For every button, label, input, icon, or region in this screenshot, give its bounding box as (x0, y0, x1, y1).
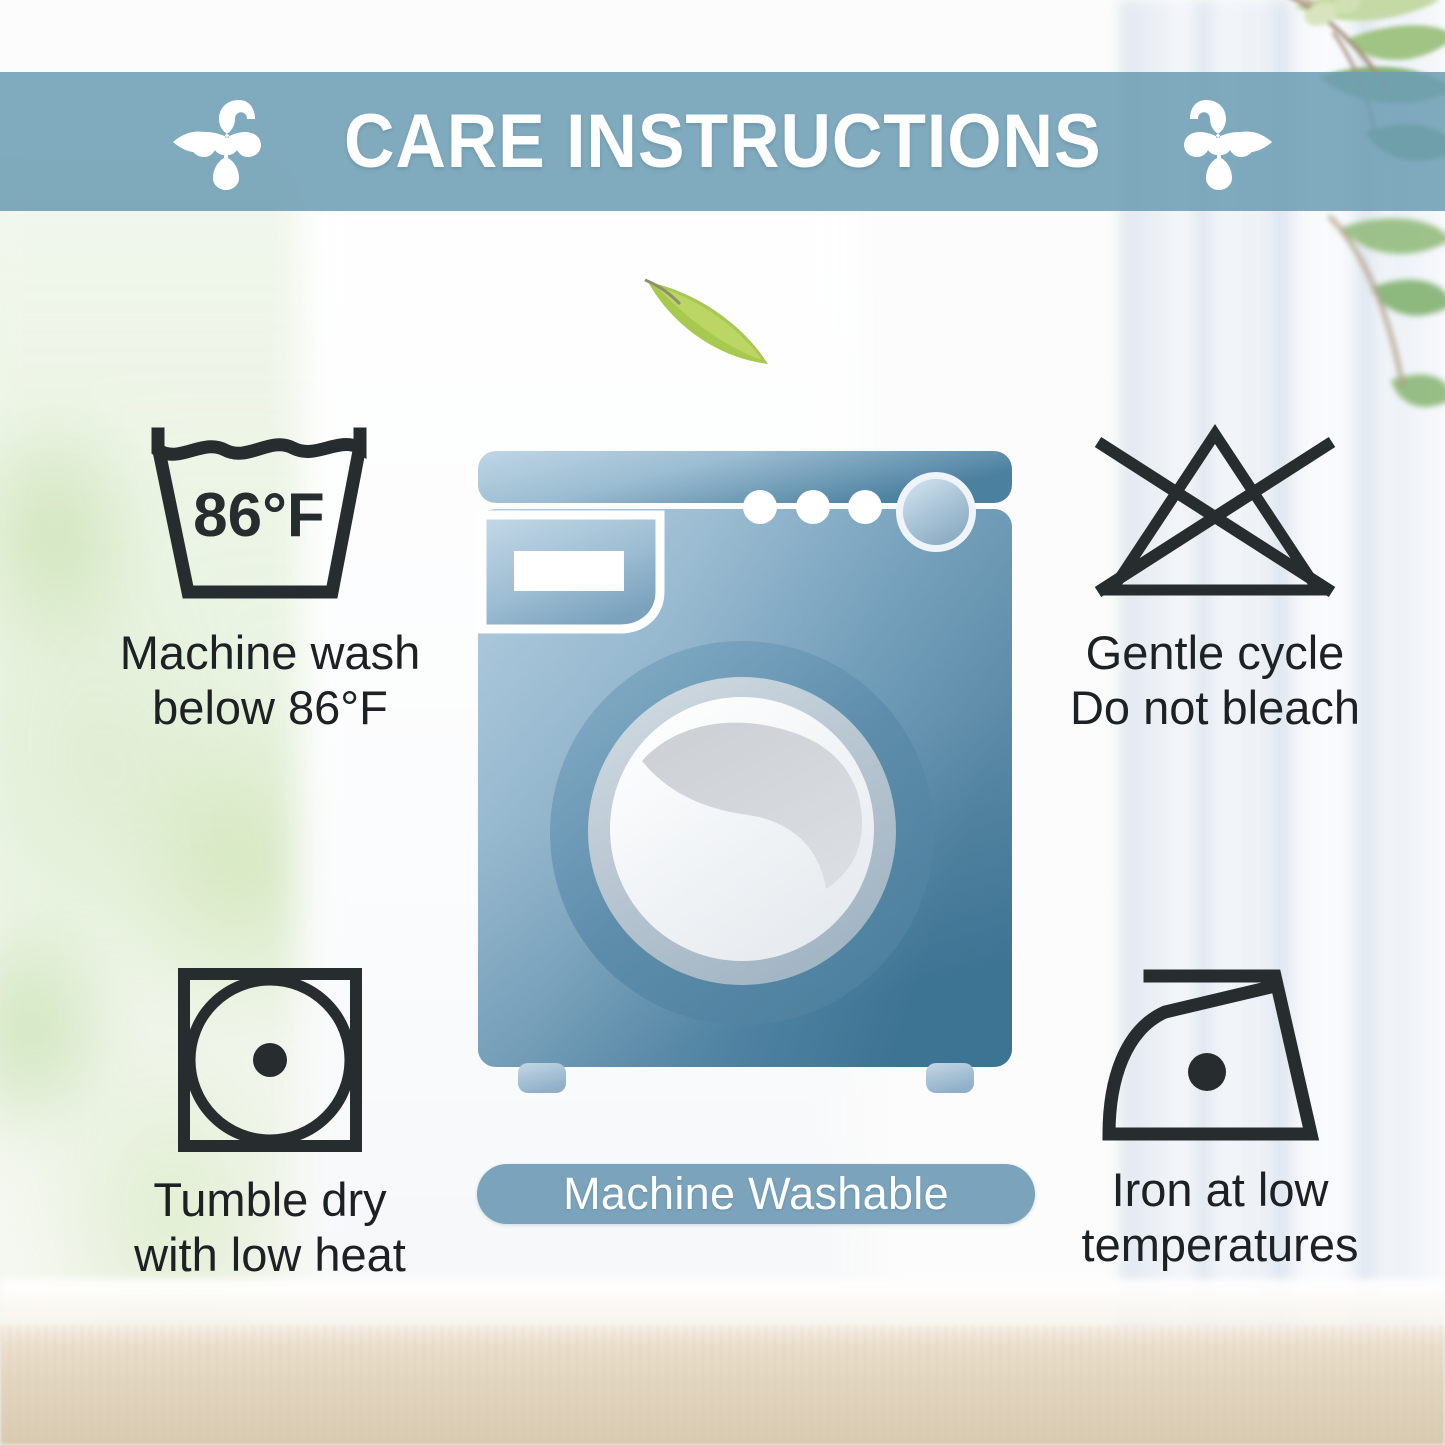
machine-washable-badge: Machine Washable (477, 1164, 1035, 1224)
care-icon-iron-low: Iron at low temperatures (1005, 962, 1435, 1273)
care-caption-do-not-bleach: Gentle cycle Do not bleach (1070, 626, 1360, 736)
care-instructions-infographic: CARE INSTRUCTIONS 86°F Machine wash belo… (0, 0, 1445, 1445)
machine-washable-label: Machine Washable (563, 1168, 949, 1220)
page-title: CARE INSTRUCTIONS (344, 98, 1102, 185)
care-icon-machine-wash: 86°F Machine wash below 86°F (40, 420, 500, 736)
care-icon-do-not-bleach: Gentle cycle Do not bleach (1000, 420, 1430, 736)
indicator-light-2 (796, 490, 830, 524)
floating-leaf-icon (640, 272, 775, 372)
tumble-dry-low-icon (170, 962, 370, 1157)
wash-tub-icon: 86°F (140, 420, 400, 610)
care-caption-tumble-dry: Tumble dry with low heat (134, 1173, 406, 1283)
header-banner: CARE INSTRUCTIONS (0, 72, 1445, 211)
fleur-de-lis-icon (1160, 92, 1278, 192)
detergent-drawer[interactable] (482, 515, 660, 629)
washing-machine-illustration (470, 443, 1020, 1123)
washer-feet (518, 1063, 974, 1093)
background-wooden-table (0, 1325, 1445, 1445)
indicator-light-1 (743, 490, 777, 524)
fleur-de-lis-icon (167, 92, 285, 192)
background-table-edge-light (0, 1279, 1445, 1327)
wash-temperature-label: 86°F (193, 481, 325, 550)
washer-indicator-lights (743, 490, 882, 524)
indicator-light-3 (848, 490, 882, 524)
do-not-bleach-triangle-icon (1080, 420, 1350, 610)
washer-foot-left (518, 1063, 566, 1093)
care-caption-machine-wash: Machine wash below 86°F (120, 626, 420, 736)
care-icon-tumble-dry: Tumble dry with low heat (40, 962, 500, 1283)
washer-control-knob[interactable] (896, 472, 976, 552)
iron-low-heat-icon (1095, 962, 1345, 1147)
care-caption-iron-low: Iron at low temperatures (1082, 1163, 1359, 1273)
washer-foot-right (926, 1063, 974, 1093)
drawer-slot (514, 551, 624, 591)
washer-door[interactable] (550, 641, 934, 1025)
